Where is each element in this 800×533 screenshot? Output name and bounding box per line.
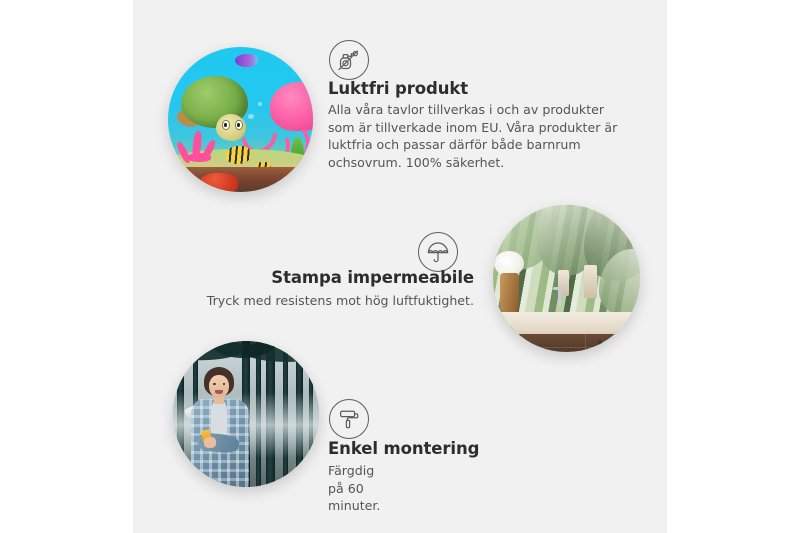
cabinet-handle (598, 340, 602, 352)
ribbed-vase (500, 273, 519, 314)
face (209, 375, 229, 398)
drawer-seam (585, 334, 587, 352)
dispenser-bottle (584, 265, 597, 297)
infographic-panel: Luktfri produkt Alla våra tavlor tillver… (133, 0, 667, 533)
feature-description: Alla våra tavlor tillverkas i och av pro… (328, 101, 628, 171)
wooden-vanity-cabinet (519, 334, 640, 352)
feature-description: Tryck med resistens mot hög luftfuktighe… (133, 292, 474, 310)
drawer-seam (524, 347, 638, 349)
feature-heading: Enkel montering (328, 439, 479, 458)
smile (215, 390, 222, 394)
feature-description: Färgdig på 60 minuter. (328, 462, 380, 515)
feature-image-bathroom-leaf-mural (493, 205, 640, 352)
feature-image-underwater-sea-life (168, 47, 313, 192)
feature-heading: Luktfri produkt (328, 79, 468, 98)
feature-heading: Stampa impermeabile (133, 268, 474, 287)
forest-portrait-illustration (173, 341, 319, 487)
faucet (558, 287, 562, 306)
no-fragrance-icon (329, 40, 369, 80)
tree-canopy (173, 341, 319, 379)
hand (204, 437, 216, 447)
lower-photo-strip (168, 167, 313, 192)
turtle-eye (235, 120, 243, 131)
crab (200, 173, 238, 192)
white-flower (494, 251, 523, 276)
product-feature-infographic: Luktfri produkt Alla våra tavlor tillver… (0, 0, 800, 533)
purple-fish-icon (235, 54, 258, 67)
feature-image-woman-with-paint-roller (173, 341, 319, 487)
underwater-illustration (168, 47, 313, 192)
bubble-icon (258, 102, 262, 106)
umbrella-icon (418, 232, 458, 272)
bathroom-illustration (493, 205, 640, 352)
paint-roller-icon (329, 399, 369, 439)
